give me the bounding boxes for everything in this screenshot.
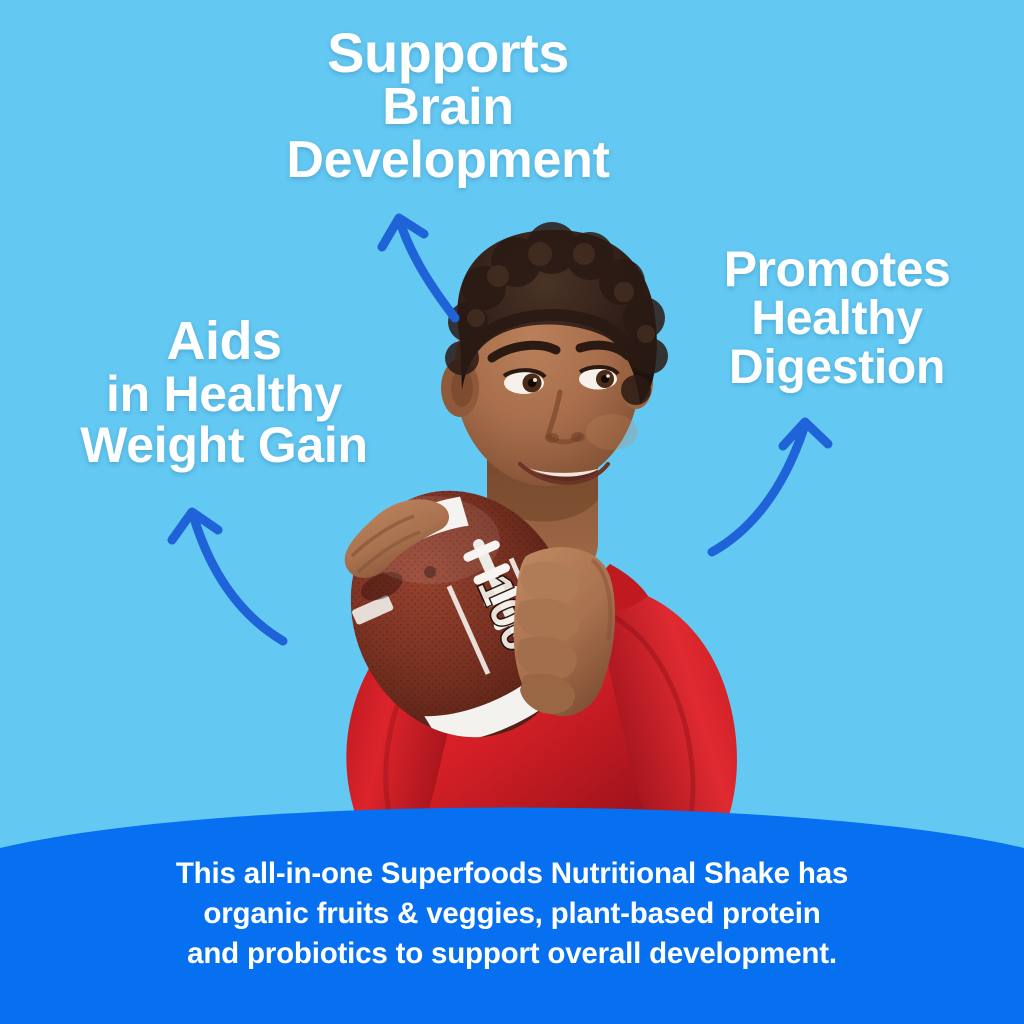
benefit-brain-lead: Supports: [218, 24, 678, 81]
benefit-brain-line3: Development: [218, 134, 678, 187]
benefit-brain-development: Supports Brain Development: [218, 24, 678, 187]
banner-line-2: organic fruits & veggies, plant-based pr…: [0, 894, 1024, 934]
arrow-to-brain-development: [382, 218, 455, 318]
benefit-brain-line2: Brain: [218, 81, 678, 134]
arrow-to-weight-gain: [172, 512, 283, 641]
benefit-weight-gain: Aids in Healthy Weight Gain: [24, 314, 424, 471]
benefit-weight-line2: in Healthy: [24, 369, 424, 420]
benefit-weight-lead: Aids: [24, 314, 424, 369]
benefit-digestion-line3: Digestion: [650, 344, 1024, 393]
benefit-healthy-digestion: Promotes Healthy Digestion: [650, 244, 1024, 393]
benefit-digestion-line2: Healthy: [650, 295, 1024, 344]
benefit-weight-line3: Weight Gain: [24, 420, 424, 471]
benefit-digestion-lead: Promotes: [650, 244, 1024, 295]
banner-line-3: and probiotics to support overall develo…: [0, 934, 1024, 974]
banner-line-1: This all-in-one Superfoods Nutritional S…: [0, 854, 1024, 894]
bottom-description-banner: This all-in-one Superfoods Nutritional S…: [0, 792, 1024, 1024]
banner-copy: This all-in-one Superfoods Nutritional S…: [0, 854, 1024, 974]
promo-canvas: 100: [0, 0, 1024, 1024]
arrow-to-healthy-digestion: [712, 422, 828, 552]
